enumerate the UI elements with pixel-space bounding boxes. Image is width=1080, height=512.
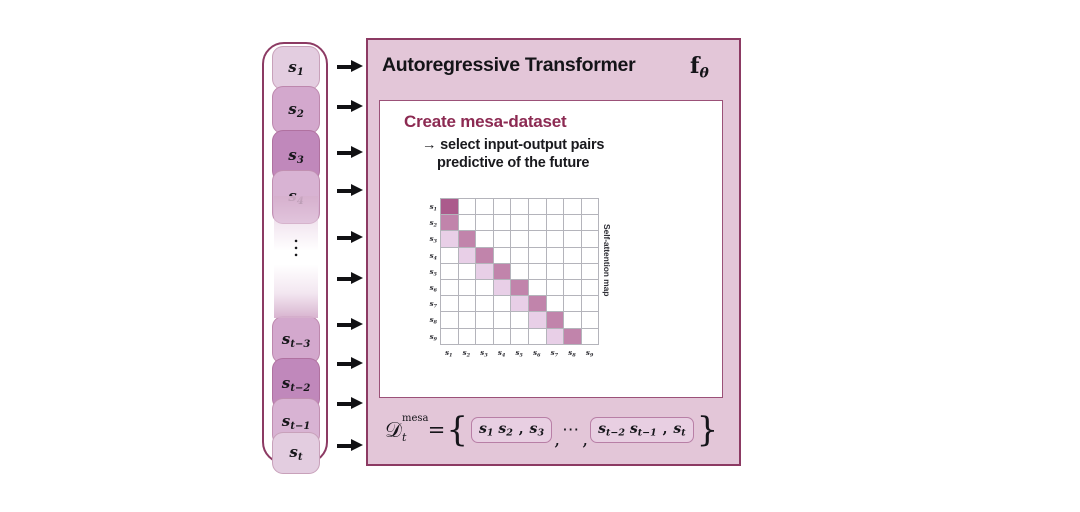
token-label: st−3 <box>282 330 311 350</box>
card-heading: Create mesa-dataset <box>404 112 567 132</box>
attention-cell-r2-c3 <box>476 215 494 231</box>
attention-cell-r1-c2 <box>459 199 477 215</box>
attention-col-label-4: s4 <box>493 348 511 358</box>
attention-col-label-5: s5 <box>510 348 528 358</box>
flow-arrow-icon-5 <box>337 231 363 244</box>
token-label: s1 <box>288 58 304 78</box>
flow-arrow-icon-8 <box>337 357 363 370</box>
attention-cell-r6-c9 <box>582 280 600 296</box>
flow-arrow-icon-4 <box>337 184 363 197</box>
attention-cell-r6-c2 <box>459 280 477 296</box>
token-box-s1: s1 <box>272 46 320 90</box>
attention-cell-r9-c9 <box>582 329 600 345</box>
attention-row-label-3: s3 <box>420 234 437 244</box>
arrow-head <box>351 272 363 284</box>
mesa-dataset-equation: 𝒟mesat = { s1 s2 , s3 , ⋯ , st−2 st−1 , … <box>379 404 723 456</box>
attention-row-label-5: s5 <box>420 267 437 277</box>
self-attention-map: s1s2s3s4s5s6s7s8s9 s1s2s3s4s5s6s7s8s9 Se… <box>416 196 686 386</box>
equation-comma: , <box>554 428 560 450</box>
pair-separator: , <box>513 421 530 437</box>
attention-row-label-2: s2 <box>420 218 437 228</box>
attention-cell-r4-c6 <box>529 248 547 264</box>
attention-cell-r4-c3 <box>476 248 494 264</box>
attention-cell-r2-c6 <box>529 215 547 231</box>
attention-cell-r7-c9 <box>582 296 600 312</box>
equation-close-brace: } <box>697 416 719 445</box>
attention-row-label-9: s9 <box>420 332 437 342</box>
attention-cell-r7-c5 <box>511 296 529 312</box>
f-theta-symbol: fθ <box>690 53 709 81</box>
attention-cell-r5-c4 <box>494 264 512 280</box>
script-D-glyph: 𝒟 <box>385 418 402 442</box>
attention-cell-r9-c6 <box>529 329 547 345</box>
attention-cell-r9-c3 <box>476 329 494 345</box>
arrow-head <box>351 184 363 196</box>
attention-cell-r2-c4 <box>494 215 512 231</box>
equation-equals-sign: = <box>428 418 446 442</box>
attention-cell-r1-c7 <box>547 199 565 215</box>
pair-token: st−2 <box>598 421 625 437</box>
attention-cell-r8-c9 <box>582 312 600 328</box>
attention-axis-title: Self-attention map <box>602 224 612 296</box>
token-box-s2: s2 <box>272 86 320 134</box>
attention-cell-r6-c5 <box>511 280 529 296</box>
attention-col-label-2: s2 <box>458 348 476 358</box>
attention-cell-r6-c6 <box>529 280 547 296</box>
equation-open-brace: { <box>446 416 468 445</box>
attention-cell-r7-c8 <box>564 296 582 312</box>
flow-arrow-icon-10 <box>337 439 363 452</box>
attention-cell-r6-c3 <box>476 280 494 296</box>
attention-cell-r7-c7 <box>547 296 565 312</box>
ellipsis-dot: . <box>272 246 320 253</box>
equation-lhs: 𝒟mesat <box>385 418 402 443</box>
attention-cell-r5-c3 <box>476 264 494 280</box>
attention-cell-r5-c5 <box>511 264 529 280</box>
attention-cell-r3-c7 <box>547 231 565 247</box>
arrow-head <box>351 397 363 409</box>
attention-cell-r6-c4 <box>494 280 512 296</box>
attention-cell-r8-c5 <box>511 312 529 328</box>
attention-row-label-8: s8 <box>420 315 437 325</box>
attention-cell-r7-c2 <box>459 296 477 312</box>
arrow-head <box>351 60 363 72</box>
attention-cell-r5-c7 <box>547 264 565 280</box>
attention-cell-r4-c8 <box>564 248 582 264</box>
equation-ellipsis: ⋯ <box>562 420 580 440</box>
arrow-head <box>351 439 363 451</box>
attention-row-label-4: s4 <box>420 251 437 261</box>
card-subtitle-line-2: predictive of the future <box>437 155 589 171</box>
attention-cell-r9-c2 <box>459 329 477 345</box>
flow-arrow-icon-9 <box>337 397 363 410</box>
attention-cell-r4-c9 <box>582 248 600 264</box>
attention-cell-r4-c5 <box>511 248 529 264</box>
attention-cell-r1-c9 <box>582 199 600 215</box>
arrow-head <box>351 100 363 112</box>
attention-cell-r2-c9 <box>582 215 600 231</box>
attention-cell-r3-c8 <box>564 231 582 247</box>
attention-row-label-6: s6 <box>420 283 437 293</box>
attention-cell-r3-c2 <box>459 231 477 247</box>
pair-separator: , <box>657 421 674 437</box>
attention-cell-r1-c1 <box>441 199 459 215</box>
attention-col-label-7: s7 <box>546 348 564 358</box>
attention-cell-r2-c7 <box>547 215 565 231</box>
attention-cell-r5-c8 <box>564 264 582 280</box>
attention-cell-r9-c7 <box>547 329 565 345</box>
attention-cell-r3-c5 <box>511 231 529 247</box>
flow-arrow-icon-6 <box>337 272 363 285</box>
attention-cell-r3-c4 <box>494 231 512 247</box>
attention-cell-r4-c4 <box>494 248 512 264</box>
attention-cell-r1-c3 <box>476 199 494 215</box>
attention-row-label-7: s7 <box>420 299 437 309</box>
attention-cell-r3-c9 <box>582 231 600 247</box>
attention-col-label-8: s8 <box>563 348 581 358</box>
token-box-st: st <box>272 432 320 474</box>
token-box-st-3: st−3 <box>272 316 320 364</box>
attention-cell-r6-c1 <box>441 280 459 296</box>
attention-cell-r7-c1 <box>441 296 459 312</box>
attention-cell-r8-c6 <box>529 312 547 328</box>
attention-cell-r4-c1 <box>441 248 459 264</box>
attention-cell-r1-c5 <box>511 199 529 215</box>
arrow-head <box>351 318 363 330</box>
pair-token: s1 <box>479 421 494 437</box>
attention-cell-r1-c8 <box>564 199 582 215</box>
flow-arrow-icon-3 <box>337 146 363 159</box>
attention-cell-r9-c5 <box>511 329 529 345</box>
attention-cell-r4-c2 <box>459 248 477 264</box>
attention-cell-r8-c8 <box>564 312 582 328</box>
attention-cell-r2-c2 <box>459 215 477 231</box>
attention-col-label-6: s6 <box>528 348 546 358</box>
attention-cell-r5-c1 <box>441 264 459 280</box>
attention-cell-r5-c9 <box>582 264 600 280</box>
token-ellipsis: . . . <box>272 232 320 253</box>
attention-cell-r9-c4 <box>494 329 512 345</box>
create-mesa-dataset-card: Create mesa-dataset → select input-outpu… <box>379 100 723 398</box>
flow-arrow-icon-2 <box>337 100 363 113</box>
attention-cell-r5-c6 <box>529 264 547 280</box>
token-label: st <box>289 443 302 463</box>
pair-token: s3 <box>530 421 545 437</box>
attention-cell-r3-c6 <box>529 231 547 247</box>
attention-cell-r8-c3 <box>476 312 494 328</box>
pair-token: s2 <box>498 421 513 437</box>
attention-cell-r4-c7 <box>547 248 565 264</box>
attention-row-label-1: s1 <box>420 202 437 212</box>
attention-cell-r8-c4 <box>494 312 512 328</box>
attention-col-label-1: s1 <box>440 348 458 358</box>
attention-cell-r2-c5 <box>511 215 529 231</box>
pair-token: st <box>673 421 685 437</box>
equation-subscript: t <box>402 431 406 444</box>
theta-glyph: θ <box>699 65 708 81</box>
attention-cell-r7-c6 <box>529 296 547 312</box>
autoregressive-transformer-panel: Autoregressive Transformer fθ Create mes… <box>366 38 741 466</box>
attention-cell-r5-c2 <box>459 264 477 280</box>
attention-cell-r3-c3 <box>476 231 494 247</box>
flow-arrow-icon-7 <box>337 318 363 331</box>
card-subtitle-line-1: → select input-output pairs <box>422 137 604 153</box>
token-label: s2 <box>288 100 304 120</box>
attention-col-label-9: s9 <box>581 348 599 358</box>
attention-cell-r1-c6 <box>529 199 547 215</box>
arrow-head <box>351 146 363 158</box>
flow-arrow-icon-1 <box>337 60 363 73</box>
attention-cell-r2-c1 <box>441 215 459 231</box>
attention-cell-r9-c8 <box>564 329 582 345</box>
attention-matrix-grid <box>440 198 599 345</box>
equation-comma: , <box>582 428 588 450</box>
attention-cell-r1-c4 <box>494 199 512 215</box>
token-label: s3 <box>288 146 304 166</box>
pair-token: st−1 <box>630 421 657 437</box>
attention-cell-r8-c1 <box>441 312 459 328</box>
arrow-head <box>351 231 363 243</box>
arrow-head <box>351 357 363 369</box>
token-label: st−1 <box>282 412 311 432</box>
page-title: Autoregressive Transformer <box>382 54 635 77</box>
token-label: st−2 <box>282 374 311 394</box>
attention-cell-r7-c4 <box>494 296 512 312</box>
attention-col-label-3: s3 <box>475 348 493 358</box>
attention-cell-r6-c8 <box>564 280 582 296</box>
attention-cell-r8-c2 <box>459 312 477 328</box>
attention-cell-r3-c1 <box>441 231 459 247</box>
attention-cell-r9-c1 <box>441 329 459 345</box>
mesa-pair-first: s1 s2 , s3 <box>471 417 552 442</box>
attention-cell-r7-c3 <box>476 296 494 312</box>
mesa-pair-last: st−2 st−1 , st <box>590 417 694 442</box>
attention-cell-r6-c7 <box>547 280 565 296</box>
attention-cell-r8-c7 <box>547 312 565 328</box>
equation-superscript: mesa <box>402 413 429 424</box>
attention-cell-r2-c8 <box>564 215 582 231</box>
